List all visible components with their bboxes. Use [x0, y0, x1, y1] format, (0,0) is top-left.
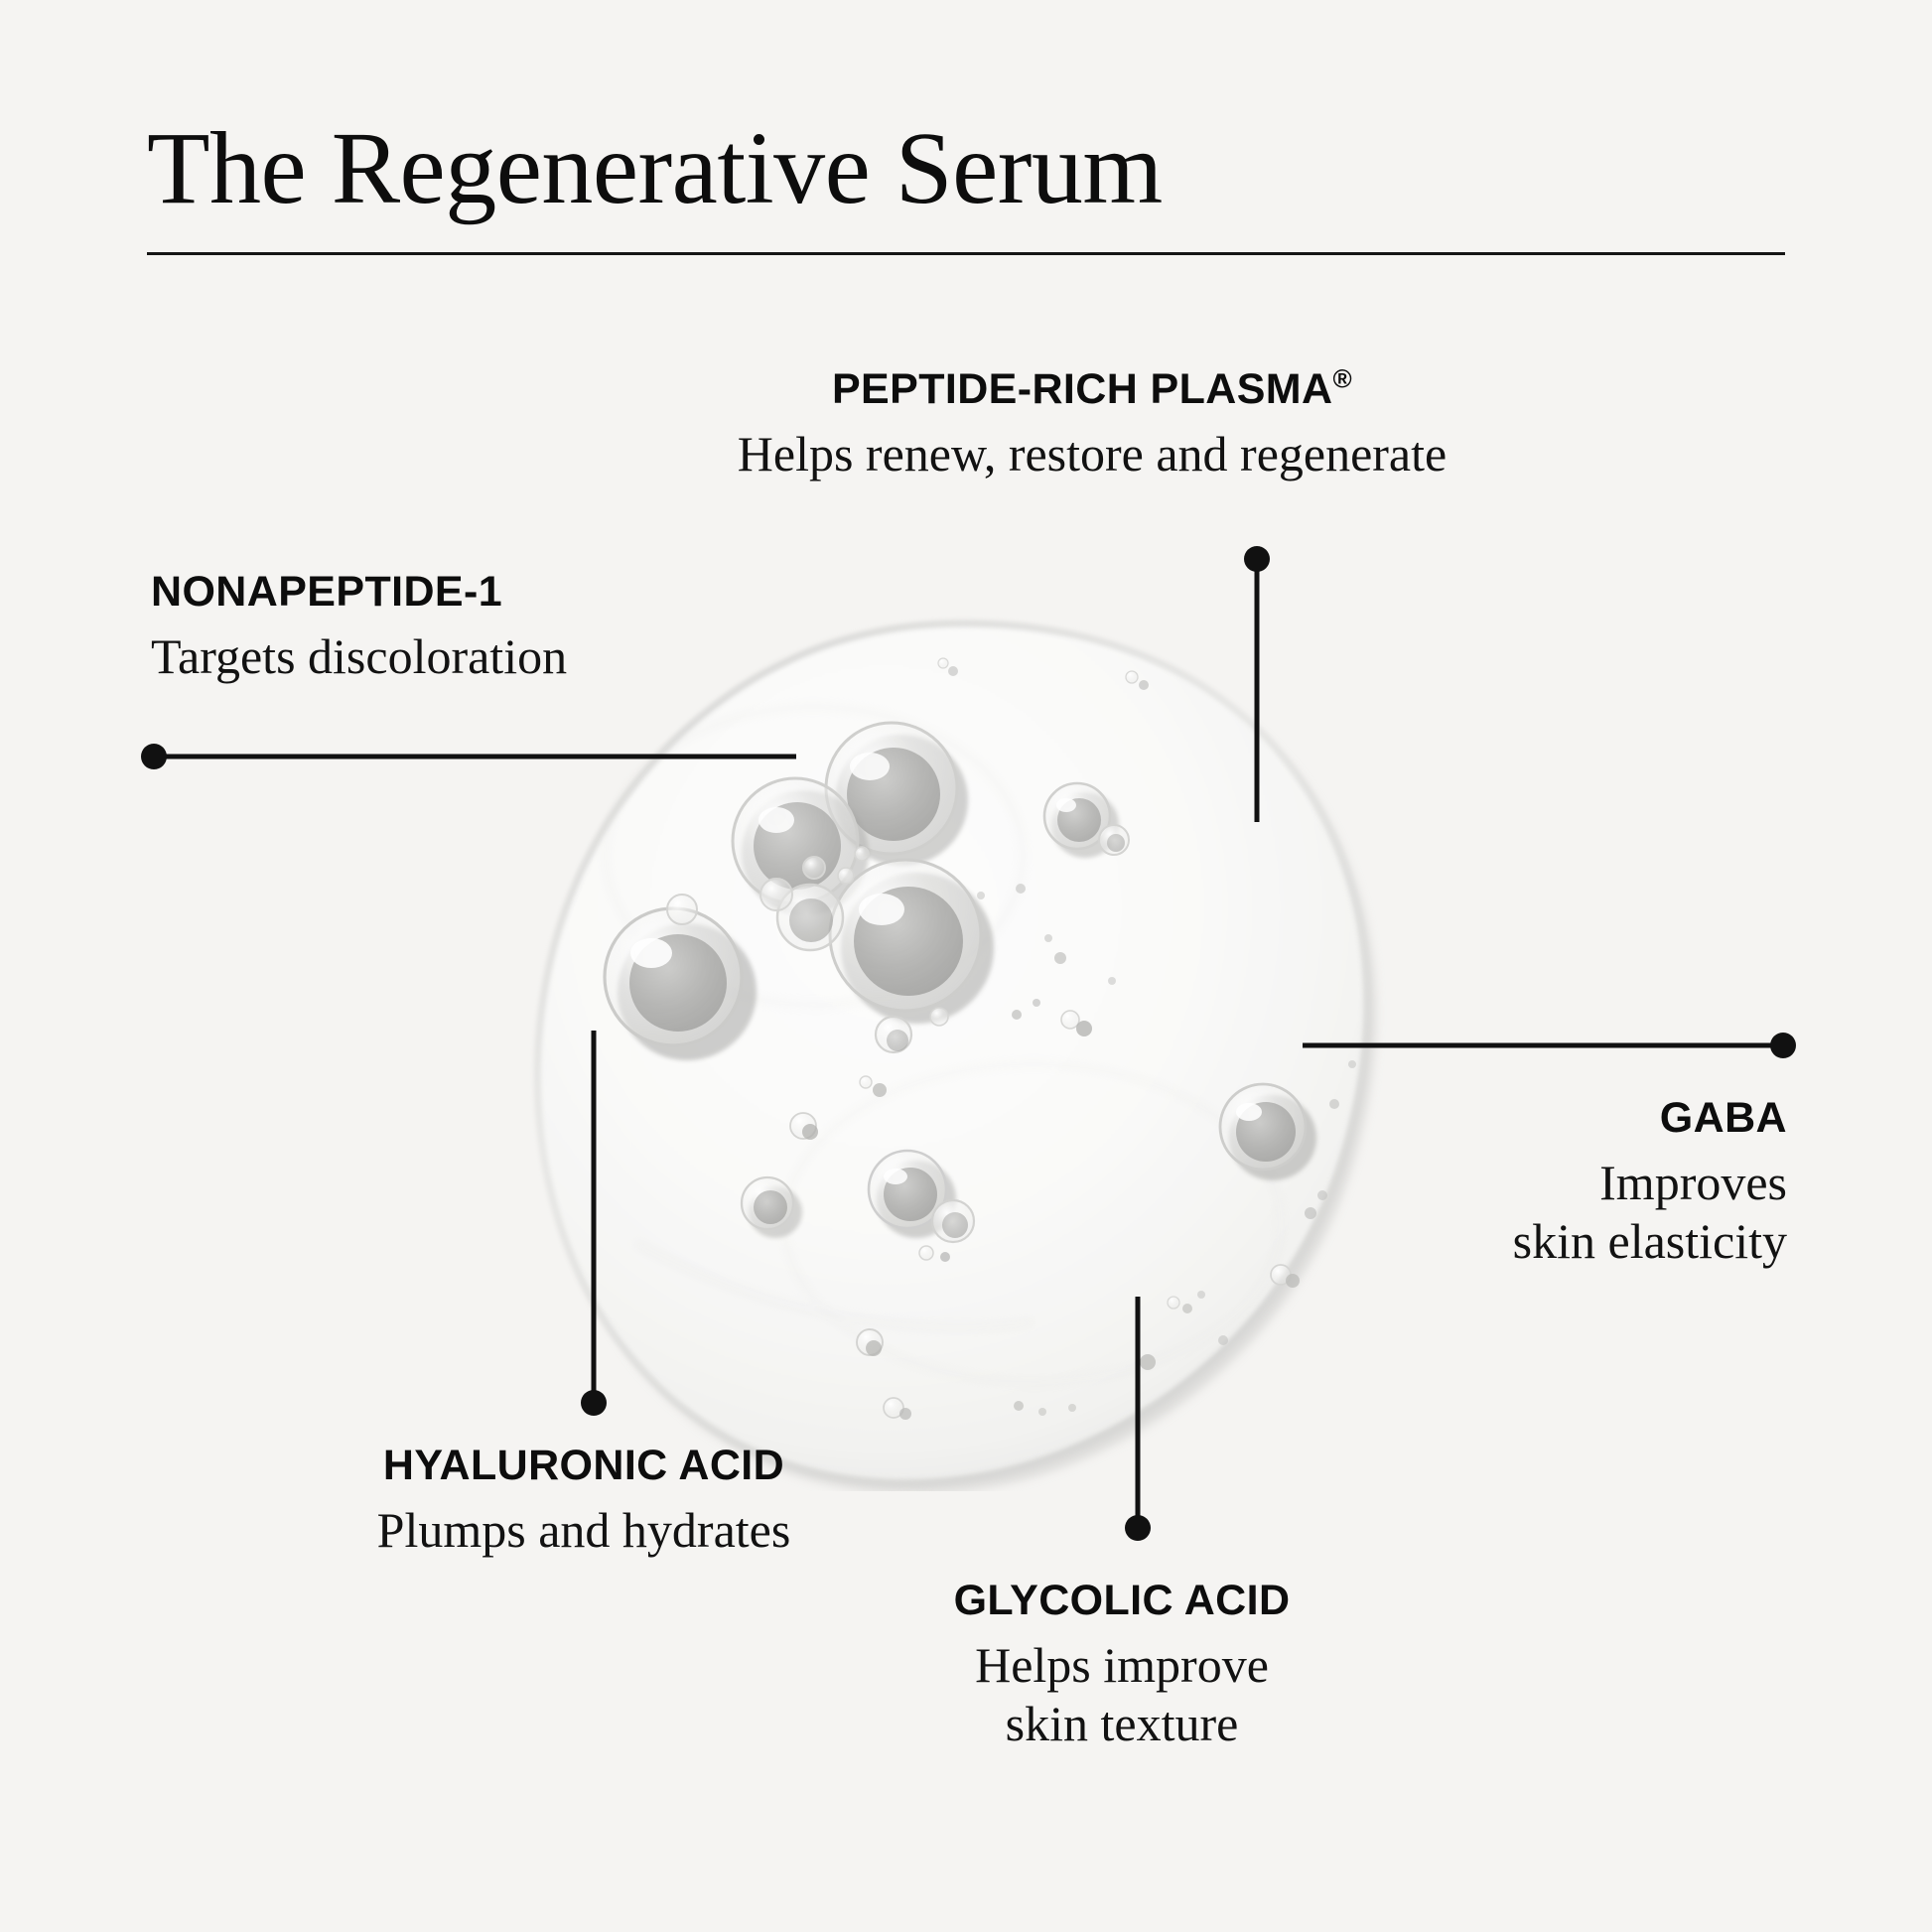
bubble	[940, 1252, 950, 1262]
connector-dot	[1770, 1033, 1796, 1058]
callout-title-text: PEPTIDE-RICH PLASMA	[832, 365, 1333, 413]
callout-title: HYALURONIC ACID	[266, 1442, 901, 1489]
bubble	[932, 1200, 974, 1242]
bubble	[855, 847, 869, 861]
bubble	[1099, 825, 1129, 855]
registered-trademark-icon: ®	[1332, 364, 1352, 394]
serum-droplet-image	[516, 608, 1390, 1491]
bubble	[838, 868, 854, 884]
callout-title-text: GABA	[1660, 1094, 1787, 1142]
page-title: The Regenerative Serum	[147, 117, 1785, 220]
callout-description: Improves skin elasticity	[1320, 1154, 1787, 1270]
callout-title: GLYCOLIC ACID	[894, 1577, 1350, 1624]
bubble	[919, 1246, 933, 1260]
callout-gaba: GABA Improves skin elasticity	[1320, 1094, 1787, 1270]
callout-title-text: HYALURONIC ACID	[383, 1442, 784, 1489]
callout-title: GABA	[1320, 1094, 1787, 1142]
callout-title: NONAPEPTIDE-1	[151, 568, 846, 616]
bubble	[803, 857, 825, 879]
callout-description: Targets discoloration	[151, 627, 846, 686]
infographic-root: The Regenerative Serum	[0, 0, 1932, 1932]
callout-peptide-rich-plasma: PEPTIDE-RICH PLASMA® Helps renew, restor…	[635, 365, 1549, 483]
callout-title-text: NONAPEPTIDE-1	[151, 568, 502, 616]
connector-dot	[1244, 546, 1270, 572]
callout-description: Helps improve skin texture	[894, 1636, 1350, 1752]
serum-droplet-graphic	[516, 608, 1390, 1491]
callout-description: Helps renew, restore and regenerate	[635, 425, 1549, 483]
callout-title: PEPTIDE-RICH PLASMA®	[635, 365, 1549, 413]
connector-dot	[141, 744, 167, 769]
callout-hyaluronic-acid: HYALURONIC ACID Plumps and hydrates	[266, 1442, 901, 1560]
callout-glycolic-acid: GLYCOLIC ACID Helps improve skin texture	[894, 1577, 1350, 1752]
callout-title-text: GLYCOLIC ACID	[954, 1577, 1291, 1624]
callout-description: Plumps and hydrates	[266, 1501, 901, 1560]
bubble	[930, 1008, 948, 1026]
bubble	[760, 879, 792, 910]
bubble	[876, 1017, 911, 1052]
bubble	[667, 895, 697, 924]
connector-dot	[1125, 1515, 1151, 1541]
title-divider	[147, 252, 1785, 255]
title-block: The Regenerative Serum	[147, 117, 1785, 255]
callout-nonapeptide-1: NONAPEPTIDE-1 Targets discoloration	[151, 568, 846, 686]
